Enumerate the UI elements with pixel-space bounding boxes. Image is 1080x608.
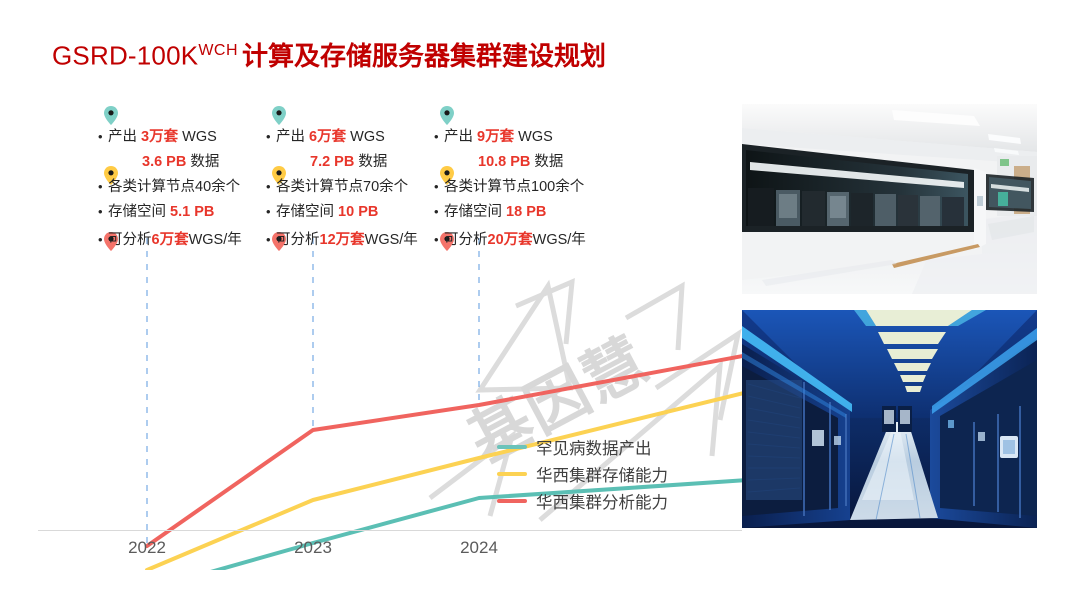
bullet-item: • 各类计算节点100余个: [434, 176, 634, 198]
legend-swatch-rare-disease-output: [497, 445, 527, 449]
bullet-prefix: 存储空间: [108, 204, 170, 220]
bullet-dot: •: [266, 176, 276, 198]
bullet-prefix: 各类计算节点100余个: [444, 176, 584, 198]
bullet-dot: •: [266, 201, 276, 223]
bullet-highlight: 6万套: [152, 232, 189, 248]
bullet-highlight: 3.6 PB: [142, 154, 186, 170]
bullet-dot: •: [98, 229, 108, 251]
bullet-highlight: 6万套: [309, 129, 346, 145]
bullet-suffix: 数据: [186, 154, 219, 170]
bullet-dot: •: [98, 201, 108, 223]
blue-aisle-illustration: [742, 310, 1037, 528]
legend-label: 华西集群分析能力: [536, 489, 668, 513]
legend-item: 华西集群存储能力: [497, 460, 668, 487]
teal-map-pin-icon: [104, 106, 118, 125]
bullet-prefix: 存储空间: [276, 204, 338, 220]
bullet-highlight: 18 PB: [506, 204, 546, 220]
legend-swatch-storage-capacity: [497, 472, 527, 476]
bullet-prefix: 可分析: [108, 232, 152, 248]
bullet-suffix: 数据: [530, 154, 563, 170]
bullet-prefix: 产出: [444, 129, 477, 145]
x-tick-2023: 2023: [294, 538, 332, 558]
bullet-dot: •: [98, 176, 108, 198]
title-chinese: 计算及存储服务器集群建设规划: [242, 41, 606, 71]
legend-swatch-analysis-capacity: [497, 499, 527, 503]
page-title: GSRD-100KWCH计算及存储服务器集群建设规划: [52, 34, 606, 73]
legend-item: 华西集群分析能力: [497, 487, 668, 514]
bullet-prefix: 各类计算节点70余个: [276, 176, 408, 198]
bullet-dot: •: [434, 126, 444, 148]
bullet-suffix: WGS: [514, 129, 553, 145]
x-tick-2024: 2024: [460, 538, 498, 558]
bullet-suffix: WGS/年: [365, 232, 418, 248]
bullet-dot: •: [434, 201, 444, 223]
bullet-prefix: 各类计算节点40余个: [108, 176, 240, 198]
bullet-prefix: 可分析: [276, 232, 320, 248]
legend-label: 华西集群存储能力: [536, 462, 668, 486]
bullet-item: • 存储空间 18 PB: [434, 201, 634, 223]
title-superscript: WCH: [198, 42, 238, 59]
bullet-suffix: WGS: [346, 129, 385, 145]
bullet-highlight: 3万套: [141, 129, 178, 145]
bullet-suffix: WGS: [178, 129, 217, 145]
legend-label: 罕见病数据产出: [536, 435, 652, 459]
bullet-dot: •: [266, 229, 276, 251]
x-tick-2022: 2022: [128, 538, 166, 558]
bullet-suffix: 数据: [354, 154, 387, 170]
bullet-highlight: 10 PB: [338, 204, 378, 220]
bullet-suffix: WGS/年: [533, 232, 586, 248]
bullet-prefix: 产出: [276, 129, 309, 145]
bullet-dot: •: [98, 126, 108, 148]
slide-root: GSRD-100KWCH计算及存储服务器集群建设规划 基因慧: [0, 0, 1080, 608]
bullet-columns: • 产出 3万套 WGS 3.6 PB 数据 • 各类计算节点40余个 • 存储…: [98, 108, 728, 278]
bullet-item: 10.8 PB 数据: [434, 151, 634, 173]
title-code: GSRD-100K: [52, 41, 198, 71]
corridor-illustration: [742, 104, 1037, 294]
bullet-highlight: 7.2 PB: [310, 154, 354, 170]
bullet-item: • 可分析20万套WGS/年: [434, 229, 634, 251]
bullet-suffix: WGS/年: [189, 232, 242, 248]
bullet-highlight: 5.1 PB: [170, 204, 214, 220]
bullet-highlight: 20万套: [488, 232, 533, 248]
bullet-dot: •: [266, 126, 276, 148]
x-axis-line: [38, 530, 742, 531]
bullet-item: • 产出 9万套 WGS: [434, 126, 634, 148]
bullet-prefix: 存储空间: [444, 204, 506, 220]
chart-legend: 罕见病数据产出 华西集群存储能力 华西集群分析能力: [497, 433, 668, 514]
bullet-prefix: 可分析: [444, 232, 488, 248]
bullet-dot: •: [434, 229, 444, 251]
teal-map-pin-icon: [440, 106, 454, 125]
x-axis-labels: 2022 2023 2024: [30, 538, 742, 568]
bullet-dot: •: [434, 176, 444, 198]
bullet-prefix: 产出: [108, 129, 141, 145]
datacenter-corridor-photo: [742, 104, 1037, 294]
teal-map-pin-icon: [272, 106, 286, 125]
bullet-highlight: 12万套: [320, 232, 365, 248]
legend-item: 罕见病数据产出: [497, 433, 668, 460]
bullet-highlight: 9万套: [477, 129, 514, 145]
datacenter-blue-aisle-photo: [742, 310, 1037, 528]
bullet-column-2024: • 产出 9万套 WGS 10.8 PB 数据 • 各类计算节点100余个 • …: [434, 108, 634, 254]
bullet-highlight: 10.8 PB: [478, 154, 530, 170]
